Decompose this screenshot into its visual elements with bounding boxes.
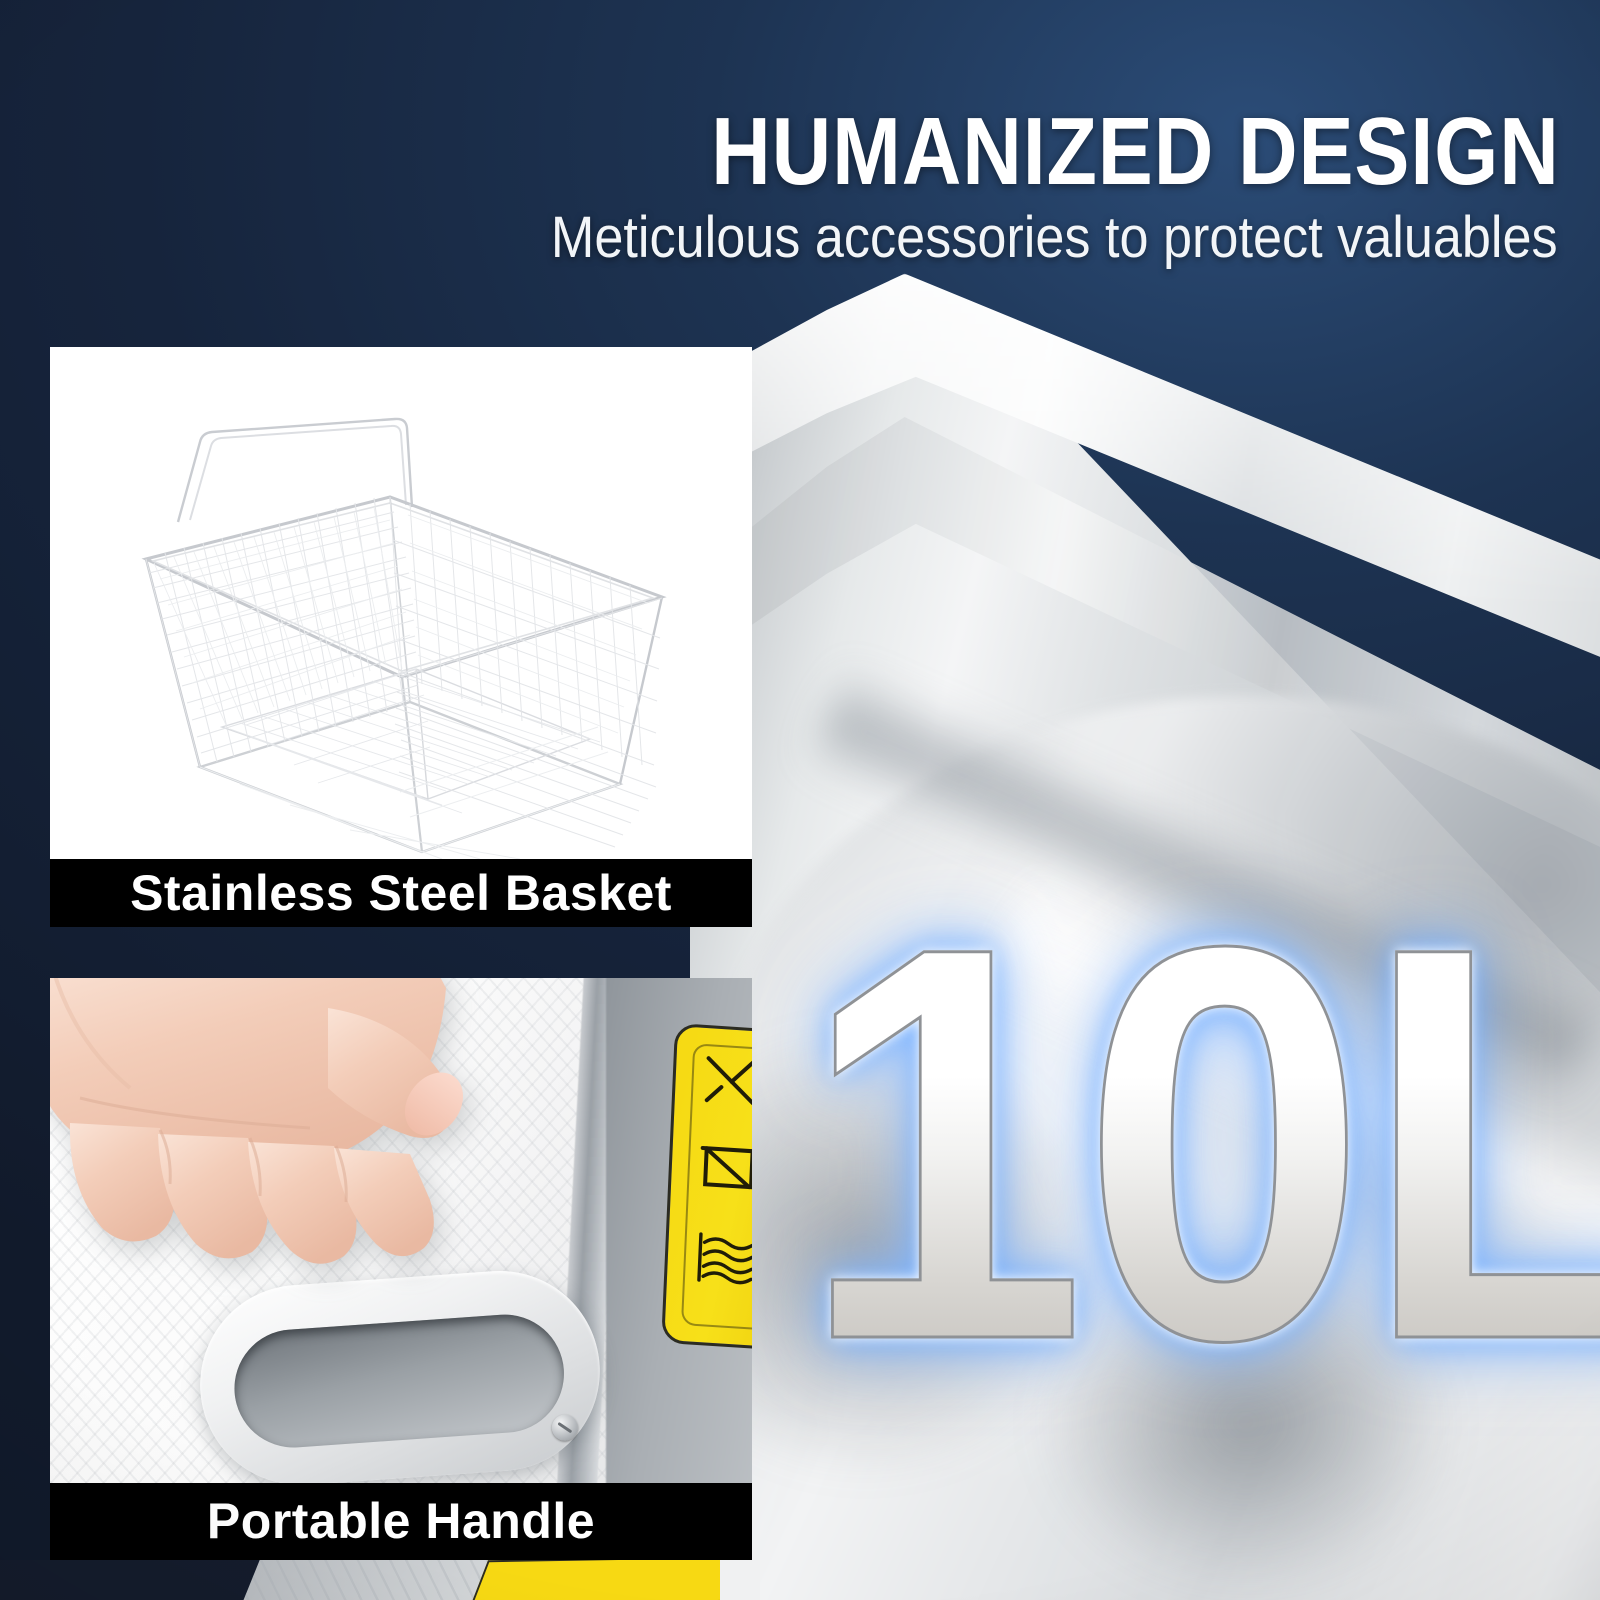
basket-photo (50, 347, 752, 859)
feature-card-handle: Portable Handle (50, 978, 752, 1560)
bottom-machine-strip (0, 1560, 760, 1600)
warning-label (661, 1023, 752, 1353)
hand-illustration (50, 978, 530, 1378)
page-title: HUMANIZED DESIGN (711, 104, 1560, 200)
bottom-strip-warning-label (470, 1560, 750, 1600)
no-hand-icon (696, 1050, 752, 1116)
bottom-strip-highlight (720, 1560, 760, 1600)
stainless-tank-photo (690, 300, 1600, 1600)
page-subtitle: Meticulous accessories to protect valuab… (551, 206, 1558, 270)
product-feature-banner: 10L HUMANIZED DESIGN Meticulous accessor… (0, 0, 1600, 1600)
warning-pictograms (687, 1050, 752, 1340)
heating-waves-icon (689, 1225, 752, 1291)
wire-basket-icon (50, 347, 752, 859)
handle-photo (50, 978, 752, 1483)
basket-caption: Stainless Steel Basket (50, 859, 752, 927)
handle-screw (551, 1414, 579, 1442)
handle-caption: Portable Handle (50, 1483, 752, 1560)
tank-shadow-center (1040, 1250, 1452, 1593)
no-container-icon (692, 1137, 752, 1203)
feature-card-basket: Stainless Steel Basket (50, 347, 752, 927)
